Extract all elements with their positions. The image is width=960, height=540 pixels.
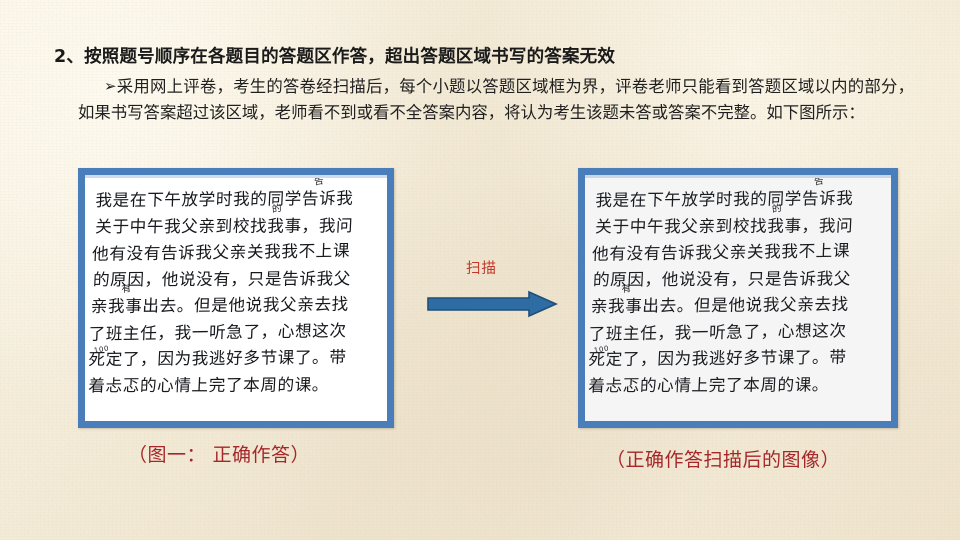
answer-sheet-scanned-paper: 我是在下午放学时我的同学告诉我告 关于中午我父亲到校找我事，我问的 他有没有告诉… xyxy=(585,175,891,421)
handwriting-line: 关于中午我父亲到校找我事，我问的 xyxy=(95,213,378,241)
handwriting-line: 着忐忑的心情上完了本周的课。 xyxy=(588,372,875,400)
handwriting-line-text: 了班主任，我一听急了，心想这次 xyxy=(588,321,847,344)
handwriting-block-original: 我是在下午放学时我的同学告诉我告 关于中午我父亲到校找我事，我问的 他有没有告诉… xyxy=(87,186,378,400)
insertion-mark: 告 xyxy=(314,176,325,187)
handwriting-line-text: 死定了，因为我逃好多节课了。带 xyxy=(588,348,847,369)
handwriting-line-text: 亲我事出去。但是他说我父亲去找 xyxy=(90,295,349,316)
handwriting-line-text: 我是在下午放学时我的同学告诉我 xyxy=(95,189,354,210)
handwriting-line: 着忐忑的心情上完了本周的课。 xyxy=(88,372,371,400)
handwriting-line: 关于中午我父亲到校找我事，我问的 xyxy=(595,213,882,241)
handwriting-block-scanned: 我是在下午放学时我的同学告诉我告 关于中午我父亲到校找我事，我问的 他有没有告诉… xyxy=(587,186,882,400)
insertion-mark: 的 xyxy=(772,203,783,214)
scan-arrow-shape xyxy=(428,292,556,316)
bullet-arrow-icon: ➢ xyxy=(104,73,117,99)
handwriting-line-text: 关于中午我父亲到校找我事，我问 xyxy=(595,216,854,236)
handwriting-line: 亲我事出去。但是他说我父亲去找有 xyxy=(590,292,877,321)
handwriting-line: 我是在下午放学时我的同学告诉我告 xyxy=(95,186,378,215)
handwriting-line-text: 他有没有告诉我父亲关我我不上课 xyxy=(92,241,351,264)
handwriting-line: 了班主任，我一听急了，心想这次100 xyxy=(588,317,875,347)
handwriting-line: 亲我事出去。但是他说我父亲去找有 xyxy=(90,292,373,321)
insertion-mark: 的 xyxy=(272,203,283,214)
handwriting-line: 了班主任，我一听急了，心想这次100 xyxy=(88,317,371,347)
handwriting-line-text: 他有没有告诉我父亲关我我不上课 xyxy=(592,241,851,264)
answer-sheet-original-paper: 我是在下午放学时我的同学告诉我告 关于中午我父亲到校找我事，我问的 他有没有告诉… xyxy=(85,175,387,421)
handwriting-line-text: 了班主任，我一听急了，心想这次 xyxy=(88,321,347,344)
insertion-mark: 告 xyxy=(814,176,825,187)
handwriting-line: 他有没有告诉我父亲关我我不上课 xyxy=(592,238,879,268)
insertion-mark: 有 xyxy=(121,284,132,295)
handwriting-line: 死定了，因为我逃好多节课了。带 xyxy=(588,344,875,373)
answer-sheet-scanned: 我是在下午放学时我的同学告诉我告 关于中午我父亲到校找我事，我问的 他有没有告诉… xyxy=(578,168,898,428)
page-title: 2、按照题号顺序在各题目的答题区作答，超出答题区域书写的答案无效 xyxy=(54,46,924,68)
handwriting-line: 我是在下午放学时我的同学告诉我告 xyxy=(595,186,882,215)
handwriting-line-text: 着忐忑的心情上完了本周的课。 xyxy=(88,375,330,395)
handwriting-line: 的原因，他说没有，只是告诉我父 xyxy=(592,266,879,294)
slide-canvas: 2、按照题号顺序在各题目的答题区作答，超出答题区域书写的答案无效 ➢采用网上评卷… xyxy=(0,0,960,540)
handwriting-line: 死定了，因为我逃好多节课了。带 xyxy=(88,345,371,374)
handwriting-line-text: 死定了，因为我逃好多节课了。带 xyxy=(88,348,347,369)
handwriting-line-text: 我是在下午放学时我的同学告诉我 xyxy=(595,189,854,210)
handwriting-line-text: 着忐忑的心情上完了本周的课。 xyxy=(588,375,830,395)
body-paragraph: ➢采用网上评卷，考生的答卷经扫描后，每个小题以答题区域框为界，评卷老师只能看到答… xyxy=(78,74,914,126)
caption-original: （图一： 正确作答） xyxy=(128,440,310,467)
body-paragraph-text: 采用网上评卷，考生的答卷经扫描后，每个小题以答题区域框为界，评卷老师只能看到答题… xyxy=(78,77,914,122)
handwriting-line: 的原因，他说没有，只是告诉我父 xyxy=(92,266,375,294)
answer-sheet-original: 我是在下午放学时我的同学告诉我告 关于中午我父亲到校找我事，我问的 他有没有告诉… xyxy=(78,168,394,428)
scan-arrow-icon xyxy=(426,290,558,318)
handwriting-line-text: 关于中午我父亲到校找我事，我问 xyxy=(95,216,354,236)
handwriting-line-text: 亲我事出去。但是他说我父亲去找 xyxy=(590,295,849,316)
caption-scanned: （正确作答扫描后的图像） xyxy=(606,445,840,472)
scan-arrow-label: 扫描 xyxy=(466,257,497,278)
insertion-mark: 有 xyxy=(621,284,632,295)
handwriting-line: 他有没有告诉我父亲关我我不上课 xyxy=(92,238,375,268)
